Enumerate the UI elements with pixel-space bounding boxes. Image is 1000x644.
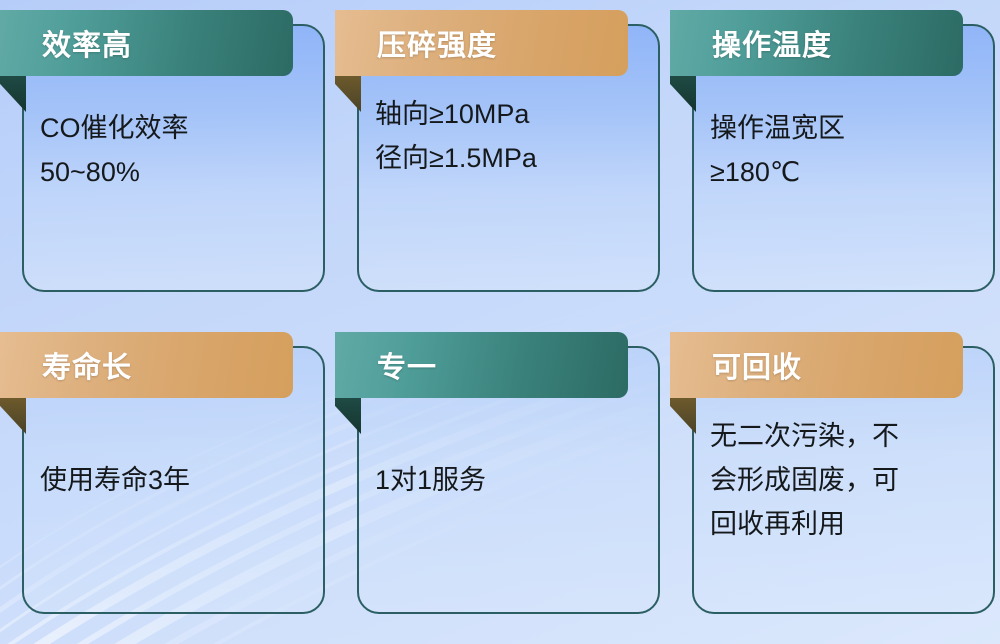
advantage-card-dedicated-service[interactable]: 专一 1对1服务 [335,322,670,644]
advantage-card-recyclable[interactable]: 可回收 无二次污染，不 会形成固废，可 回收再利用 [670,322,1000,644]
card-banner-label: 效率高 [42,22,132,64]
card-banner-label: 专一 [377,344,437,386]
card-body-text: 使用寿命3年 [40,458,290,502]
card-body-text: CO催化效率 50~80% [40,106,290,194]
advantage-card-crush-strength[interactable]: 压碎强度 轴向≥10MPa 径向≥1.5MPa [335,0,670,322]
advantage-card-operating-temperature[interactable]: 操作温度 操作温宽区 ≥180℃ [670,0,1000,322]
ribbon-fold-icon [0,76,26,112]
card-banner: 操作温度 [670,10,963,76]
card-banner: 可回收 [670,332,963,398]
card-banner-label: 操作温度 [712,22,832,64]
ribbon-fold-icon [335,398,361,434]
card-banner: 专一 [335,332,628,398]
card-body-text: 1对1服务 [375,458,625,502]
card-banner-label: 寿命长 [42,344,132,386]
ribbon-fold-icon [335,76,361,112]
card-banner: 寿命长 [0,332,293,398]
advantage-card-efficiency[interactable]: 效率高 CO催化效率 50~80% [0,0,335,322]
card-body-text: 轴向≥10MPa 径向≥1.5MPa [375,92,625,180]
advantage-cards-grid: 效率高 CO催化效率 50~80% 压碎强度 轴向≥10MPa 径向≥1.5MP… [0,0,1000,644]
ribbon-fold-icon [670,398,696,434]
ribbon-fold-icon [670,76,696,112]
card-banner-label: 压碎强度 [377,22,497,64]
card-banner: 压碎强度 [335,10,628,76]
advantage-card-long-life[interactable]: 寿命长 使用寿命3年 [0,322,335,644]
card-body-text: 操作温宽区 ≥180℃ [710,106,960,194]
card-banner-label: 可回收 [712,344,802,386]
card-banner: 效率高 [0,10,293,76]
ribbon-fold-icon [0,398,26,434]
card-body-text: 无二次污染，不 会形成固废，可 回收再利用 [710,414,960,546]
